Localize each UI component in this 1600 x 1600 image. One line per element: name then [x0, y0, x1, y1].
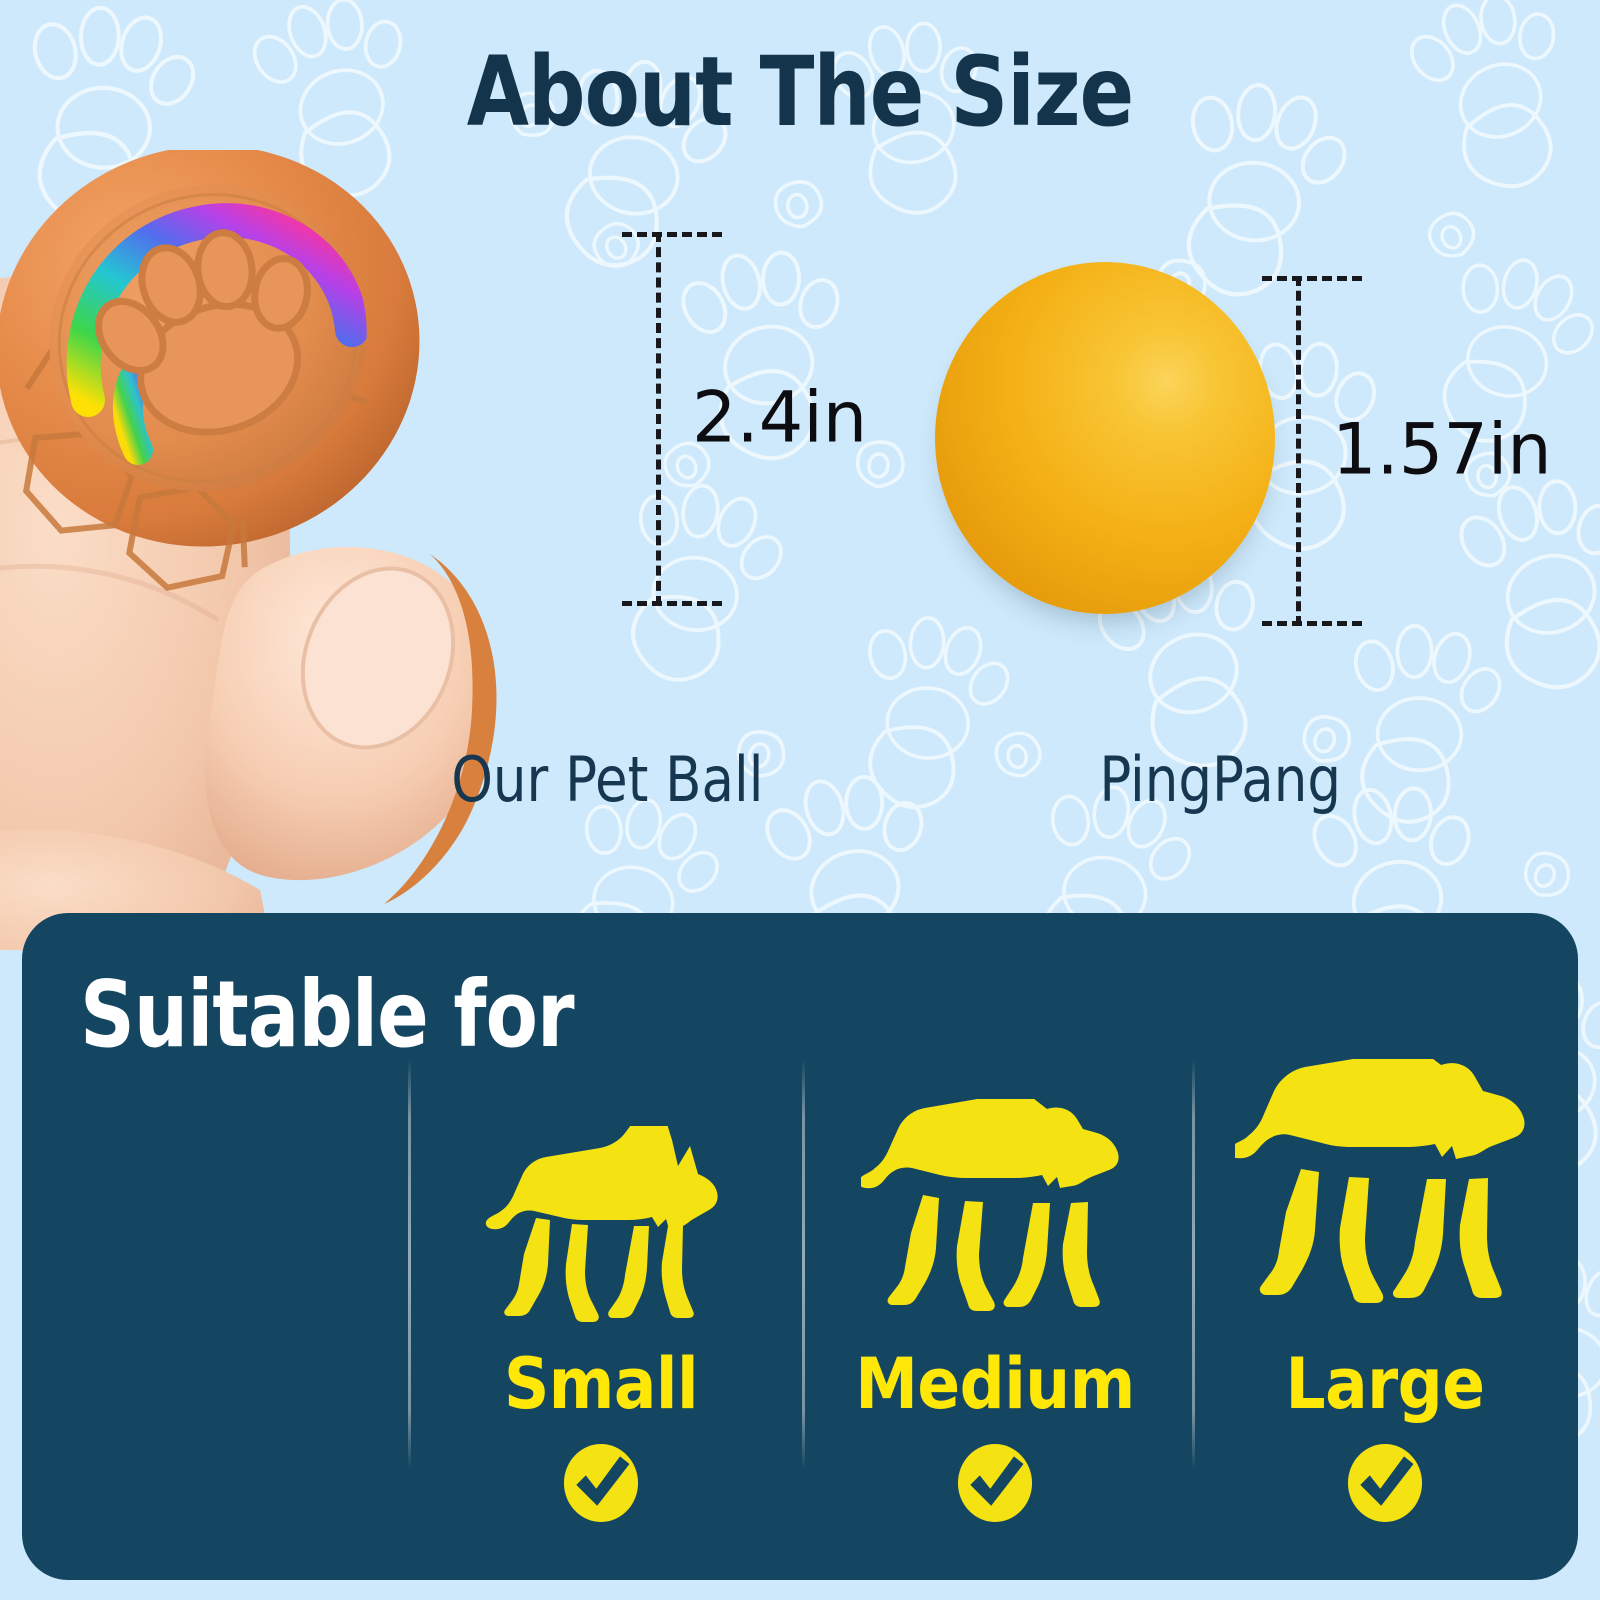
- hand-holding-pet-ball-image: [0, 150, 620, 950]
- pingpang-ball-image: [935, 262, 1275, 614]
- page-title: About The Size: [56, 36, 1544, 148]
- dog-medium-icon: [861, 1099, 1129, 1331]
- size-label-small: Small: [504, 1349, 698, 1419]
- dimension-label-our-pet-ball: 2.4in: [692, 376, 867, 458]
- check-icon: [1347, 1443, 1423, 1523]
- caption-our-pet-ball: Our Pet Ball: [451, 743, 763, 816]
- check-icon: [957, 1443, 1033, 1523]
- dog-large-wrap: [1235, 1031, 1535, 1331]
- size-column-large[interactable]: Large: [1192, 1031, 1578, 1561]
- dimension-label-pingpang: 1.57in: [1332, 408, 1552, 490]
- dimension-cap-top: [1262, 276, 1362, 281]
- dimension-cap-bottom: [1262, 621, 1362, 626]
- dog-small-wrap: [476, 1031, 726, 1331]
- dog-large-icon: [1235, 1059, 1535, 1331]
- size-label-large: Large: [1286, 1349, 1485, 1419]
- dimension-line: [656, 232, 661, 606]
- size-column-medium[interactable]: Medium: [802, 1031, 1188, 1561]
- caption-pingpang: PingPang: [1099, 743, 1341, 816]
- suitable-for-panel: Suitable for Small: [22, 913, 1578, 1580]
- dimension-cap-bottom: [622, 601, 722, 606]
- size-label-medium: Medium: [855, 1349, 1135, 1419]
- check-icon: [563, 1443, 639, 1523]
- size-column-small[interactable]: Small: [408, 1031, 794, 1561]
- dog-medium-wrap: [861, 1031, 1129, 1331]
- dimension-line: [1296, 276, 1301, 626]
- dog-small-icon: [476, 1126, 726, 1331]
- dimension-cap-top: [622, 232, 722, 237]
